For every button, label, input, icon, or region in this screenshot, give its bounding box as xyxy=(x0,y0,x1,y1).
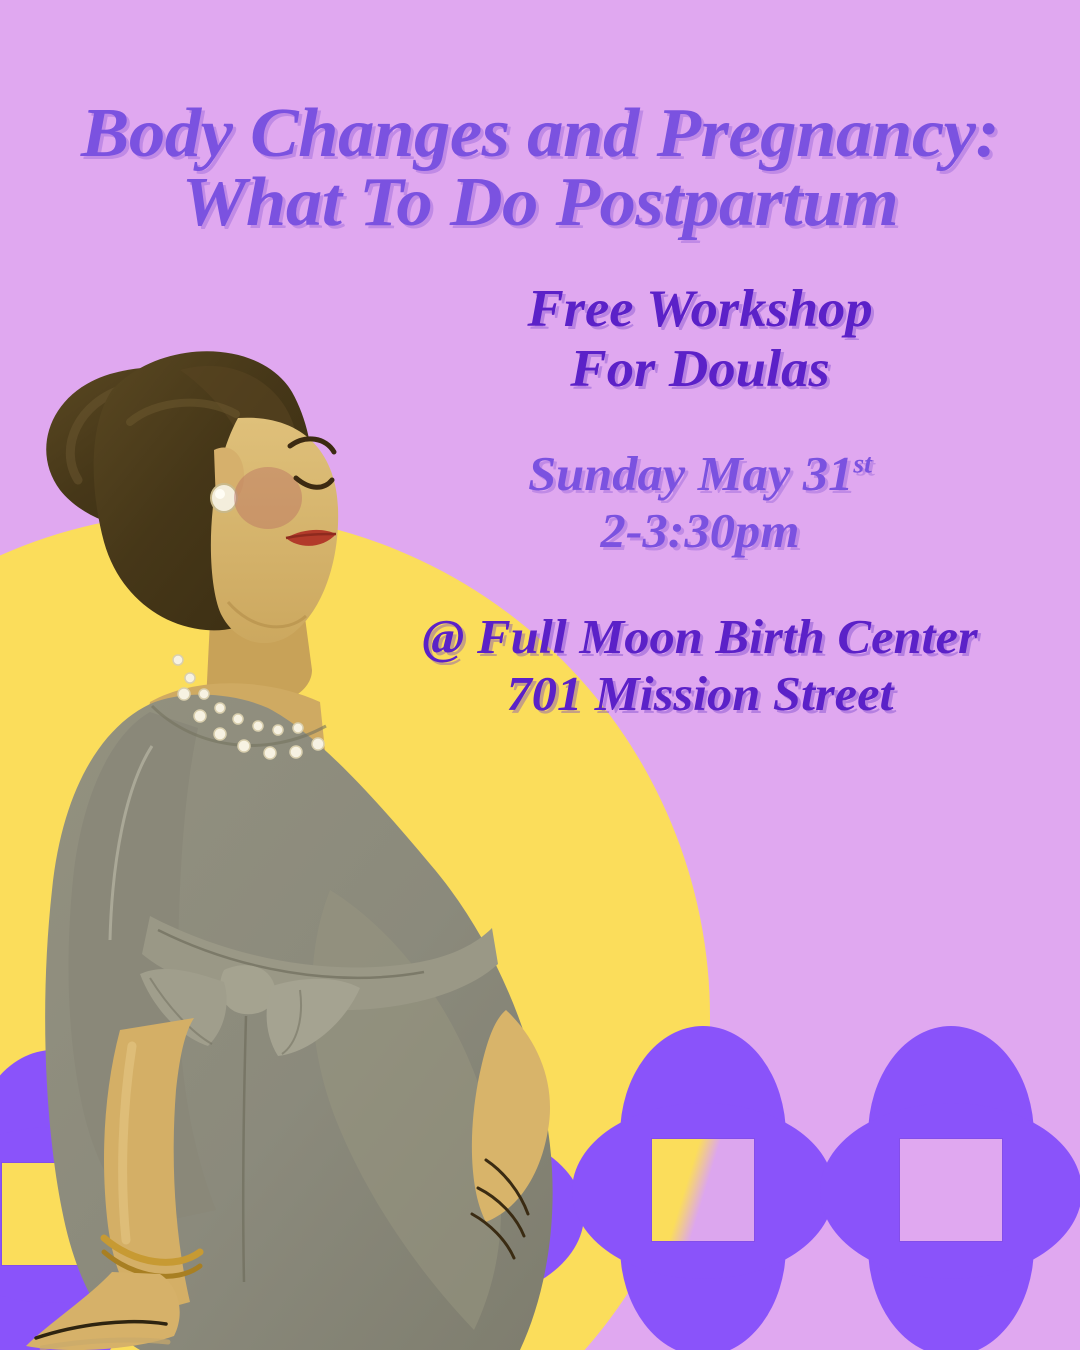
poster-canvas: Body Changes and Pregnancy: What To Do P… xyxy=(0,0,1080,1350)
spacer-1 xyxy=(380,400,1020,446)
title-line-1: Body Changes and Pregnancy: xyxy=(0,100,1080,169)
venue-address: 701 Mission Street xyxy=(370,666,1029,723)
title-line-2: What To Do Postpartum xyxy=(0,169,1080,238)
workshop-line-2: For Doulas xyxy=(370,340,1029,400)
event-date: Sunday May 31st xyxy=(370,446,1029,503)
workshop-line-1: Free Workshop xyxy=(370,280,1029,340)
spacer-2 xyxy=(380,559,1020,609)
workshop-group: Free Workshop For Doulas xyxy=(380,280,1020,400)
flower-shape-5 xyxy=(820,1026,1080,1350)
blush-cheek xyxy=(234,467,302,529)
event-date-suffix: st xyxy=(853,448,872,478)
face xyxy=(211,418,338,643)
event-info-block: Free Workshop For Doulas Sunday May 31st… xyxy=(380,280,1020,723)
flower-window xyxy=(900,1139,1002,1241)
venue-group: @ Full Moon Birth Center 701 Mission Str… xyxy=(380,609,1020,723)
event-date-text: Sunday May 31 xyxy=(528,446,853,501)
event-time: 2-3:30pm xyxy=(370,503,1029,560)
poster-headline: Body Changes and Pregnancy: What To Do P… xyxy=(0,100,1080,237)
datetime-group: Sunday May 31st 2-3:30pm xyxy=(380,446,1020,560)
pearl-earring xyxy=(211,484,237,512)
venue-name: @ Full Moon Birth Center xyxy=(370,609,1029,666)
